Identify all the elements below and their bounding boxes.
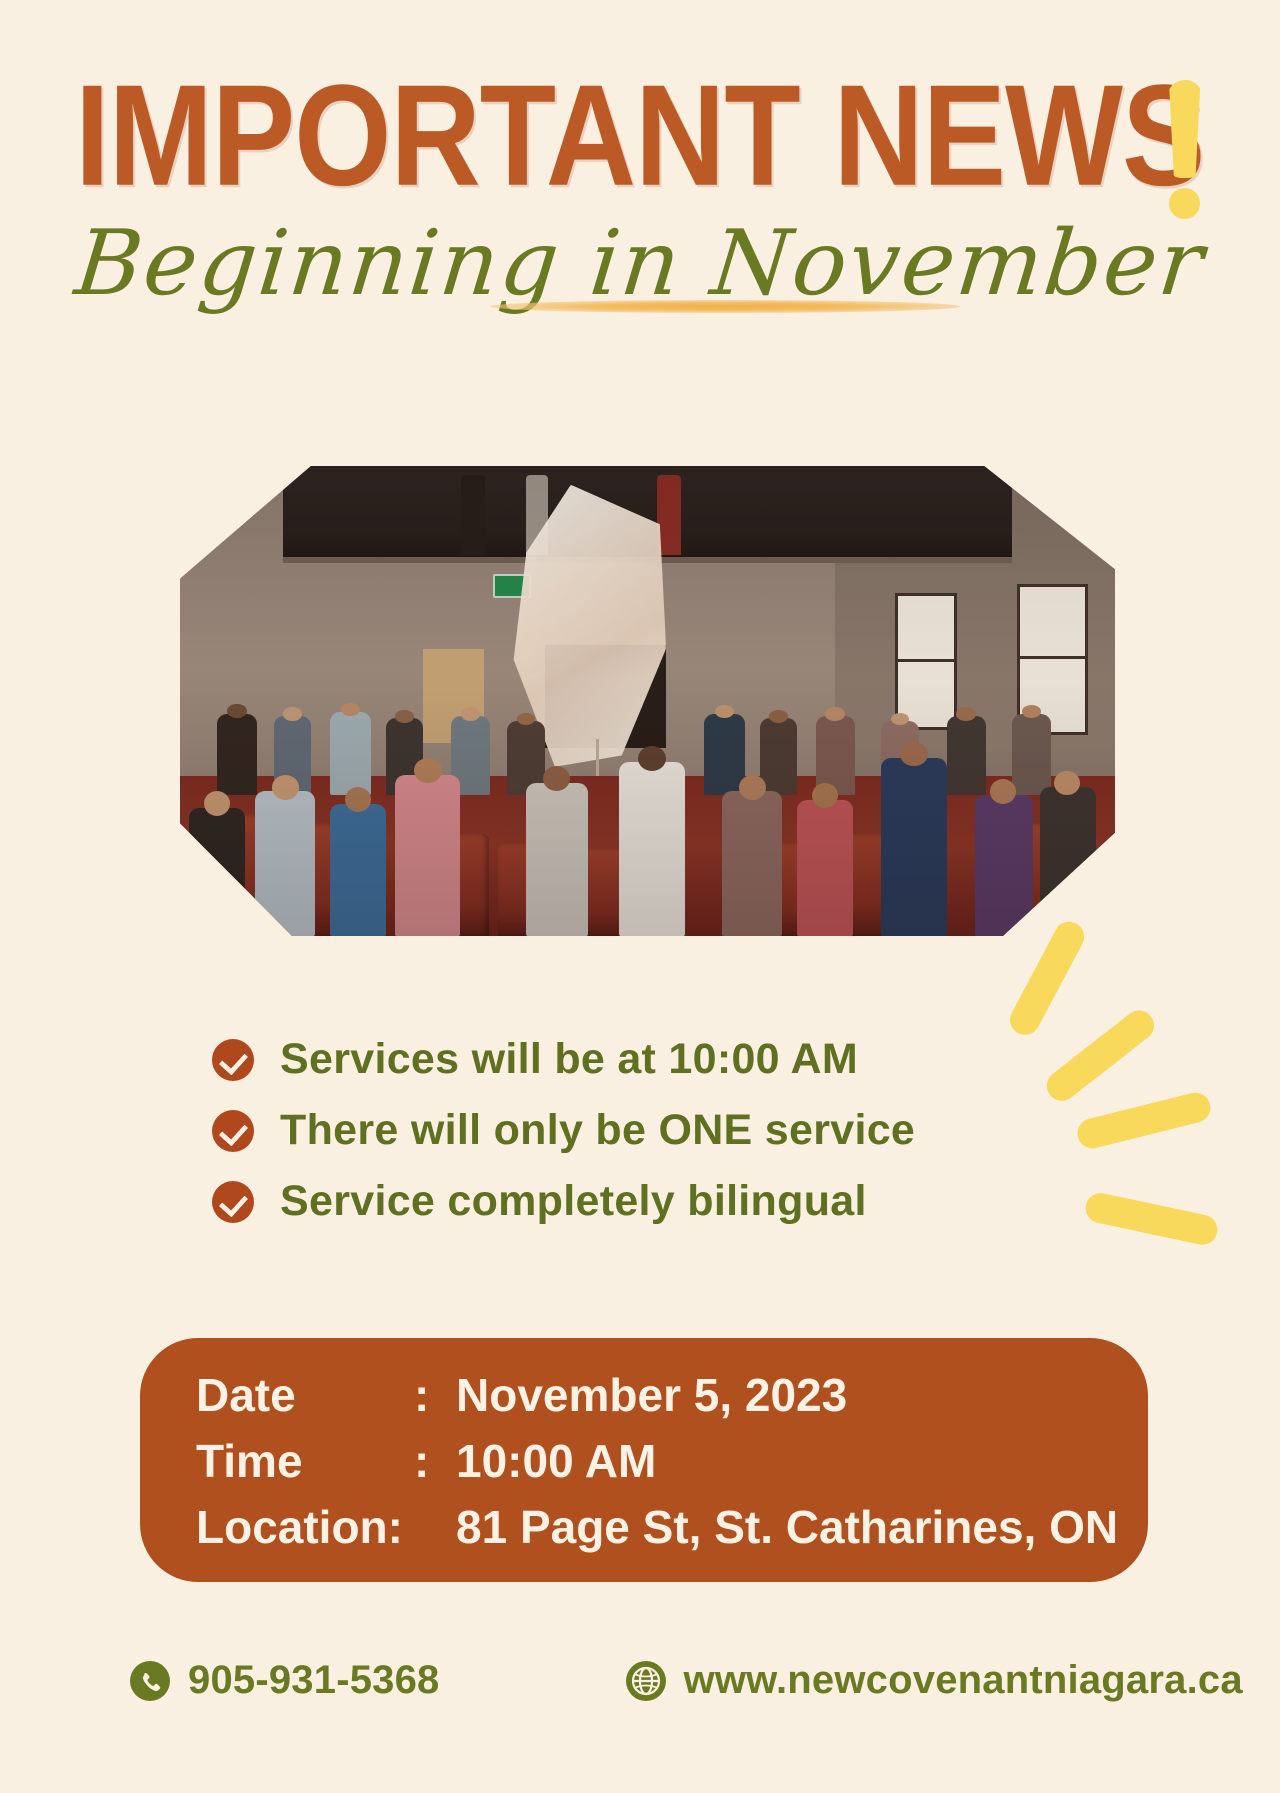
detail-label: Location:: [196, 1500, 414, 1554]
person-head: [956, 707, 976, 721]
person-head: [769, 710, 788, 722]
person-head: [812, 783, 838, 808]
globe-icon: [626, 1661, 666, 1701]
poster: IMPORTANT NEWS Beginning in November: [0, 0, 1280, 1793]
page-title: IMPORTANT NEWS: [75, 64, 1204, 208]
event-details-card: Date : November 5, 2023 Time : 10:00 AM …: [140, 1338, 1148, 1582]
detail-label: Date: [196, 1368, 414, 1422]
person: [722, 791, 782, 936]
detail-row-location: Location: 81 Page St, St. Catharines, ON: [196, 1500, 1118, 1566]
person: [797, 800, 853, 936]
detail-row-time: Time : 10:00 AM: [196, 1434, 1118, 1500]
person: [619, 762, 684, 936]
website-url: www.newcovenantniagara.ca: [684, 1658, 1243, 1703]
photo-scene: [180, 466, 1115, 936]
person: [526, 783, 588, 936]
person-head: [900, 742, 928, 767]
subtitle-underline-swoosh: [490, 300, 960, 313]
exclamation-stem: [1167, 80, 1203, 178]
detail-separator: :: [414, 1434, 456, 1488]
bullet-list: Services will be at 10:00 AM There will …: [212, 1035, 1052, 1248]
person-head: [825, 707, 845, 721]
congregation-photo: [180, 466, 1115, 936]
burst-ray: [1083, 1190, 1220, 1247]
list-item-label: Service completely bilingual: [280, 1177, 867, 1226]
list-item: Service completely bilingual: [212, 1177, 1052, 1226]
footer: 905-931-5368 www.newcovenantniagara.ca: [130, 1658, 1190, 1703]
contact-phone[interactable]: 905-931-5368: [130, 1658, 440, 1703]
person: [330, 804, 386, 936]
phone-number: 905-931-5368: [188, 1658, 440, 1703]
crowd-row-front: [180, 729, 1115, 936]
headline-row: IMPORTANT NEWS: [0, 64, 1280, 216]
list-item: There will only be ONE service: [212, 1106, 1052, 1155]
person: [395, 775, 460, 936]
person-head: [283, 707, 303, 721]
contact-website[interactable]: www.newcovenantniagara.ca: [626, 1658, 1243, 1703]
person-head: [543, 766, 570, 791]
person-head: [414, 758, 442, 783]
check-circle-icon: [212, 1181, 254, 1223]
detail-label: Time: [196, 1434, 414, 1488]
check-circle-icon: [212, 1110, 254, 1152]
burst-ray: [1041, 1004, 1160, 1106]
person-head: [272, 775, 299, 800]
exclamation-mark-icon: [1167, 80, 1205, 216]
balcony-person: [461, 475, 485, 555]
list-item-label: Services will be at 10:00 AM: [280, 1035, 858, 1084]
person-head: [990, 779, 1016, 804]
detail-value: November 5, 2023: [456, 1368, 847, 1422]
person: [881, 758, 946, 936]
burst-ray: [1074, 1090, 1213, 1152]
list-item: Services will be at 10:00 AM: [212, 1035, 1052, 1084]
person-head: [739, 775, 766, 800]
phone-icon: [130, 1661, 170, 1701]
person: [189, 808, 245, 936]
detail-row-date: Date : November 5, 2023: [196, 1368, 1118, 1434]
person-head: [395, 710, 414, 722]
detail-separator: :: [414, 1368, 456, 1422]
check-circle-icon: [212, 1039, 254, 1081]
person: [255, 791, 315, 936]
list-item-label: There will only be ONE service: [280, 1106, 915, 1155]
person-head: [461, 707, 481, 721]
burst-ray: [1005, 916, 1090, 1040]
detail-value: 81 Page St, St. Catharines, ON: [456, 1500, 1118, 1554]
event-details-rows: Date : November 5, 2023 Time : 10:00 AM …: [196, 1368, 1118, 1566]
balcony-person: [376, 475, 397, 555]
person-head: [345, 787, 371, 812]
person-head: [638, 746, 666, 771]
detail-value: 10:00 AM: [456, 1434, 656, 1488]
